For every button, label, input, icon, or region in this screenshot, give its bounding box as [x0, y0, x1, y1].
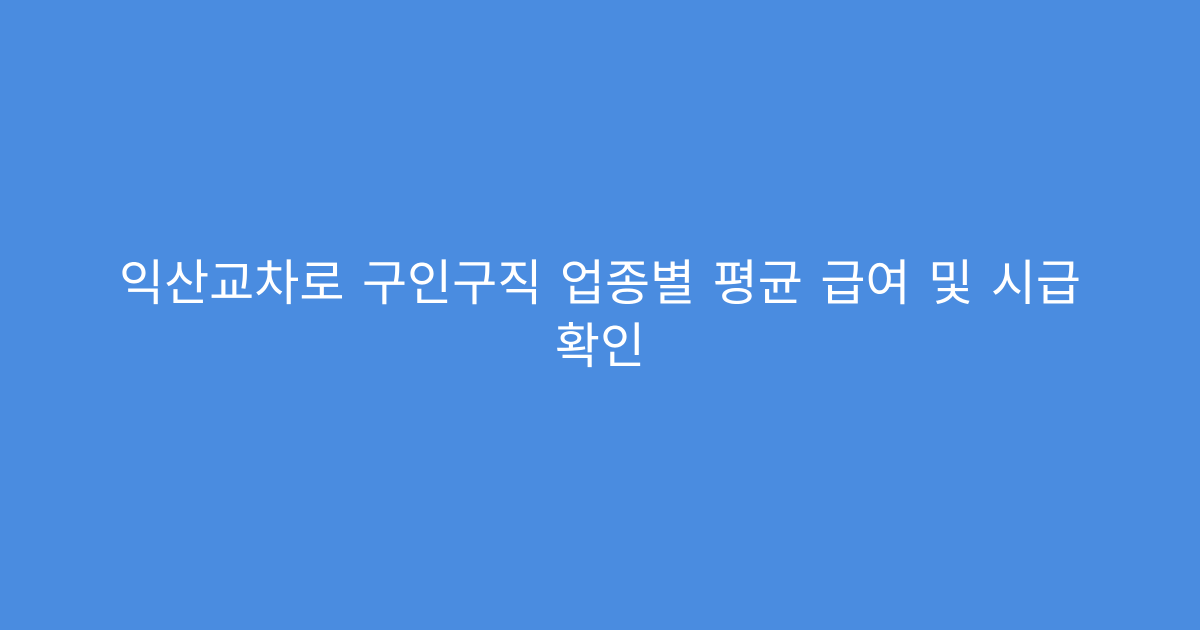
page-title: 익산교차로 구인구직 업종별 평균 급여 및 시급 확인 [110, 252, 1090, 378]
headline-block: 익산교차로 구인구직 업종별 평균 급여 및 시급 확인 [100, 252, 1100, 378]
og-card: 익산교차로 구인구직 업종별 평균 급여 및 시급 확인 [0, 0, 1200, 630]
